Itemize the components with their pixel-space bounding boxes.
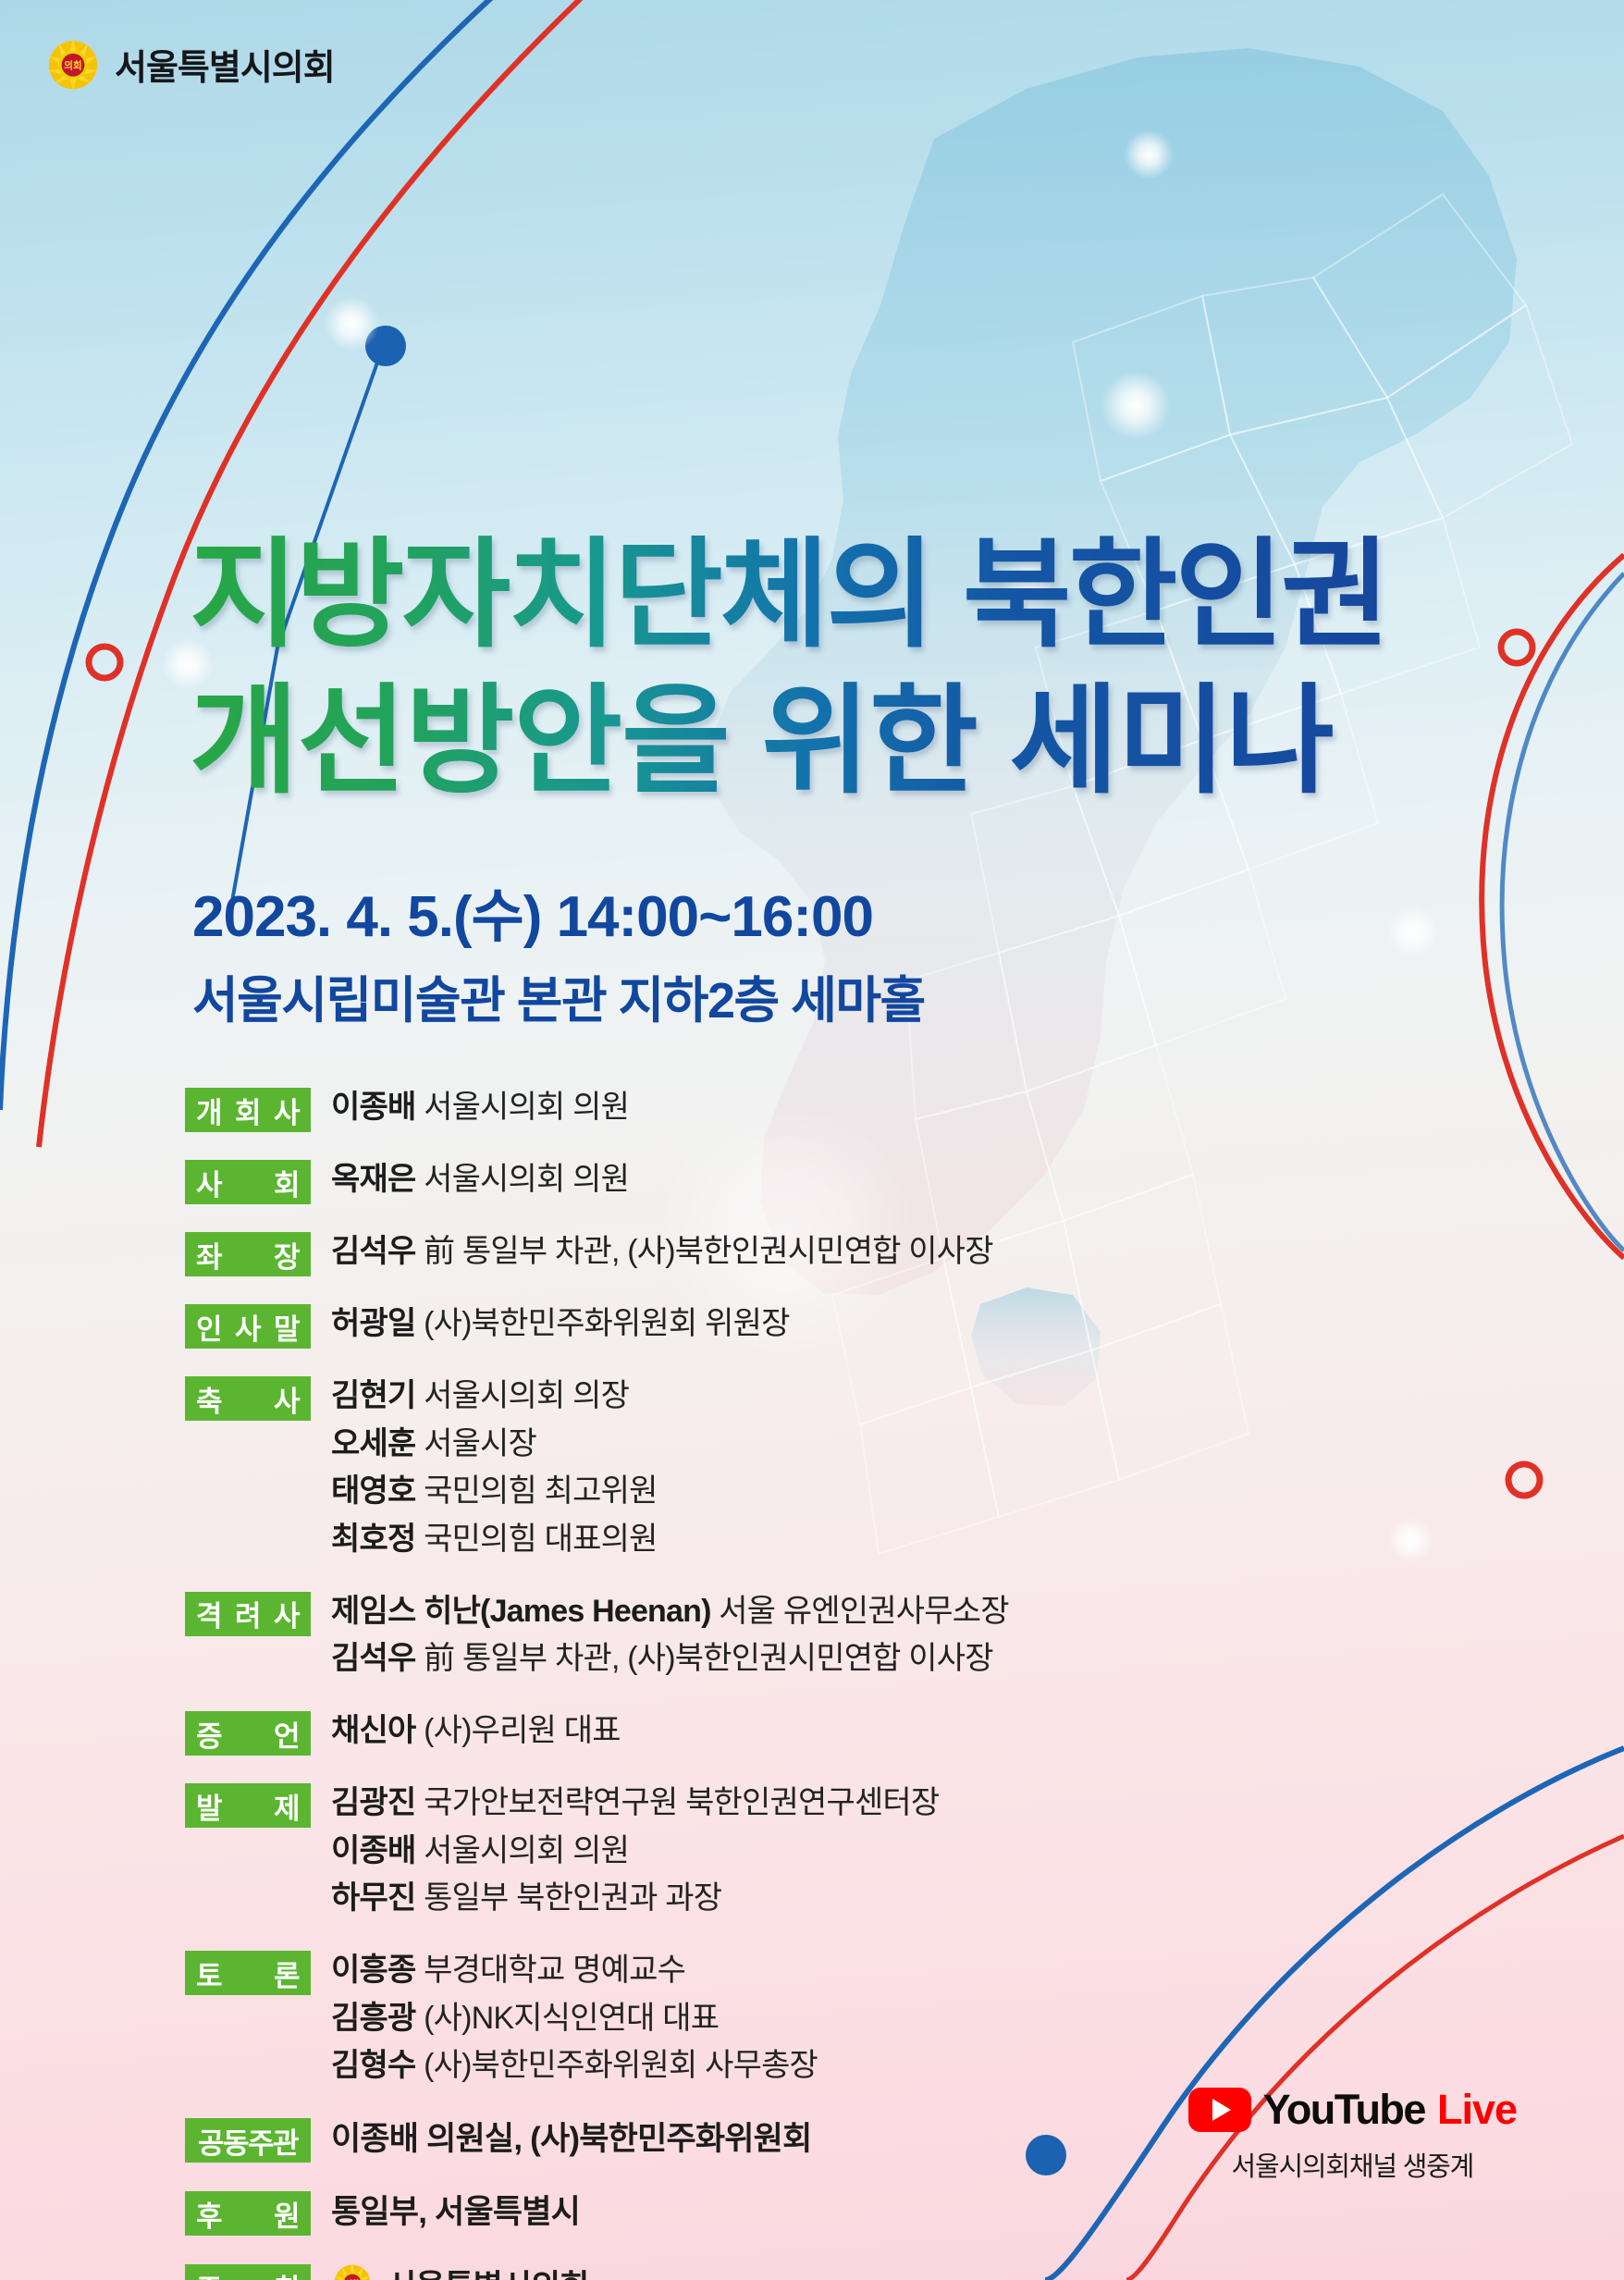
program-entry-title: 부경대학교 명예교수 (415, 1953, 685, 1988)
program-entry-name: 허광일 (331, 1306, 415, 1341)
program-entry-title: 서울시장 (415, 1426, 536, 1461)
program-entry-name: 오세훈 (331, 1426, 415, 1461)
ring-red-right-top (1501, 632, 1532, 663)
badge-char: 회 (274, 1162, 300, 1203)
program-entry: 김광진 국가안보전략연구원 북한인권연구센터장 (331, 1780, 1341, 1828)
program-entries: 김현기 서울시의회 의장오세훈 서울시장태영호 국민의힘 최고위원최호정 국민의… (331, 1373, 1341, 1564)
program-entry: 최호정 국민의힘 대표의원 (331, 1516, 1341, 1564)
program-entry-name: 이종배 의원실, (사)북한민주화위원회 (331, 2121, 811, 2157)
program-entry: 김석우 前 통일부 차관, (사)북한인권시민연합 이사장 (331, 1228, 1341, 1276)
glow-spark-1 (324, 296, 379, 351)
program-entry-title: 前 통일부 차관, (사)북한인권시민연합 이사장 (415, 1234, 992, 1269)
program-entry-name: 하무진 (331, 1880, 415, 1916)
program-entry-name: 김흥광 (331, 2001, 415, 2036)
program-role-badge: 공동주관 (185, 2118, 311, 2163)
program-entries: 이흥종 부경대학교 명예교수김흥광 (사)NK지식인연대 대표김형수 (사)북한… (331, 1947, 1341, 2090)
program-role-badge: 인사말 (185, 1304, 311, 1349)
badge-char: 발 (196, 1785, 222, 1827)
program-entry: 이종배 서울시의회 의원 (331, 1084, 1341, 1132)
badge-char: 최 (274, 2266, 300, 2280)
program-row: 후원통일부, 서울특별시 (185, 2188, 1341, 2237)
header-logo: 의회 서울특별시의회 (44, 35, 335, 92)
program-entries: 의회 서울특별시의회 (331, 2261, 1341, 2280)
badge-char: 사 (274, 1090, 300, 1131)
badge-char: 토 (196, 1953, 222, 1994)
program-row: 격려사제임스 히난(James Heenan) 서울 유엔인권사무소장김석우 前… (185, 1588, 1341, 1683)
program-entry: 이흥종 부경대학교 명예교수 (331, 1947, 1341, 1995)
program-entry-name: 김석우 (331, 1234, 415, 1269)
program-entry: 통일부, 서울특별시 (331, 2188, 1341, 2237)
dot-blue-top (365, 326, 406, 366)
program-entry-title: (사)북한민주화위원회 사무총장 (415, 2048, 818, 2083)
program-row: 인사말허광일 (사)북한민주화위원회 위원장 (185, 1300, 1341, 1349)
youtube-wordmark: YouTube (1263, 2086, 1425, 2134)
glow-spark-3 (1124, 129, 1174, 179)
program-entry-name: 제임스 히난(James Heenan) (331, 1594, 711, 1629)
program-entry-title: 국민의힘 대표의원 (415, 1522, 657, 1557)
badge-char: 축 (196, 1378, 222, 1420)
program-entry-name: 태영호 (331, 1473, 415, 1509)
program-row: 좌장김석우 前 통일부 차관, (사)북한인권시민연합 이사장 (185, 1228, 1341, 1276)
badge-char: 회 (235, 1090, 261, 1131)
badge-char: 사 (274, 1378, 300, 1420)
program-entry-name: 이흥종 (331, 1953, 415, 1988)
badge-char: 제 (274, 1785, 300, 1827)
program-role-badge: 발제 (185, 1783, 311, 1828)
badge-char: 사 (235, 1306, 261, 1348)
program-entry-title: (사)북한민주화위원회 위원장 (415, 1306, 789, 1341)
program-entry-title: 국가안보전략연구원 북한인권연구센터장 (415, 1785, 939, 1820)
program-row: 증언채신아 (사)우리원 대표 (185, 1707, 1341, 1756)
program-entry: 김형수 (사)북한민주화위원회 사무총장 (331, 2042, 1341, 2090)
event-venue: 서울시립미술관 본관 지하2층 세마홀 (192, 959, 925, 1032)
program-entry: 오세훈 서울시장 (331, 1421, 1341, 1469)
program-entry-name: 김광진 (331, 1785, 415, 1820)
badge-char: 원 (274, 2193, 300, 2235)
badge-char: 개 (196, 1090, 222, 1131)
program-row: 축사김현기 서울시의회 의장오세훈 서울시장태영호 국민의힘 최고위원최호정 국… (185, 1373, 1341, 1564)
program-entry-title: 서울시의회 의원 (415, 1162, 629, 1197)
badge-char: 려 (235, 1593, 261, 1634)
program-entry: 하무진 통일부 북한인권과 과장 (331, 1875, 1341, 1923)
program-role-badge: 토론 (185, 1951, 311, 1995)
program-entry-title: (사)우리원 대표 (415, 1713, 620, 1748)
broadcast-block: YouTube Live 서울시의회채널 생중계 (1188, 2086, 1517, 2184)
program-entries: 김광진 국가안보전략연구원 북한인권연구센터장이종배 서울시의회 의원하무진 통… (331, 1780, 1341, 1923)
schedule-block: 2023. 4. 5.(수) 14:00~16:00 서울시립미술관 본관 지하… (192, 881, 925, 1032)
badge-char: 좌 (196, 1234, 222, 1276)
program-row: 주최 의회 서울특별시의회 (185, 2261, 1341, 2280)
seoul-council-emblem-icon: 의회 (331, 2261, 374, 2280)
seminar-poster: 의회 서울특별시의회 지방자치단체의 북한인권 개선방안을 위한 세미나 202… (0, 0, 1624, 2280)
program-entries: 김석우 前 통일부 차관, (사)북한인권시민연합 이사장 (331, 1228, 1341, 1276)
glow-spark-2 (1101, 370, 1171, 440)
program-entry-title: 서울시의회 의원 (415, 1090, 629, 1125)
program-entry-title: 서울 유엔인권사무소장 (711, 1594, 1009, 1629)
title-line-1: 지방자치단체의 북한인권 (190, 527, 1387, 664)
program-entries: 통일부, 서울특별시 (331, 2188, 1341, 2237)
program-row: 토론이흥종 부경대학교 명예교수김흥광 (사)NK지식인연대 대표김형수 (사)… (185, 1947, 1341, 2090)
badge-char: 론 (274, 1953, 300, 1994)
badge-char: 공동주관 (198, 2120, 298, 2162)
program-entry-title: 서울시의회 의장 (415, 1378, 629, 1413)
program-entry-title: 국민의힘 최고위원 (415, 1473, 657, 1509)
glow-spark-6 (1387, 906, 1439, 958)
program-entries: 채신아 (사)우리원 대표 (331, 1707, 1341, 1756)
program-entry-title: 서울시의회 의원 (415, 1833, 629, 1868)
program-entry: 허광일 (사)북한민주화위원회 위원장 (331, 1300, 1341, 1349)
program-role-badge: 주최 (185, 2264, 311, 2280)
program-row: 공동주관이종배 의원실, (사)북한민주화위원회 (185, 2114, 1341, 2163)
program-entry-name: 서울특별시의회 (387, 2261, 588, 2280)
broadcast-channel-note: 서울시의회채널 생중계 (1188, 2145, 1517, 2184)
program-entry: 김석우 前 통일부 차관, (사)북한인권시민연합 이사장 (331, 1635, 1341, 1683)
badge-char: 인 (196, 1306, 222, 1348)
badge-char: 후 (196, 2193, 222, 2235)
program-entry-name: 채신아 (331, 1713, 415, 1748)
program-entry: 김현기 서울시의회 의장 (331, 1373, 1341, 1421)
badge-char: 증 (196, 1713, 222, 1755)
ring-red-right-bottom (1508, 1464, 1540, 1496)
badge-char: 사 (196, 1162, 222, 1203)
program-entry-name: 김형수 (331, 2048, 415, 2083)
program-role-badge: 개회사 (185, 1088, 311, 1132)
badge-char: 말 (274, 1306, 300, 1348)
program-entries: 이종배 서울시의회 의원 (331, 1084, 1341, 1132)
program-entry-name: 이종배 (331, 1090, 415, 1125)
program-role-badge: 좌장 (185, 1232, 311, 1276)
program-entry: 채신아 (사)우리원 대표 (331, 1707, 1341, 1756)
program-entry-name: 이종배 (331, 1833, 415, 1868)
arc-blue-right (1502, 573, 1624, 1251)
program-entry: 태영호 국민의힘 최고위원 (331, 1468, 1341, 1516)
program-entry-name: 통일부, 서울특별시 (331, 2194, 580, 2230)
badge-char: 격 (196, 1593, 222, 1634)
program-entries: 제임스 히난(James Heenan) 서울 유엔인권사무소장김석우 前 통일… (331, 1588, 1341, 1683)
program-entry-name: 최호정 (331, 1522, 415, 1557)
program-role-badge: 축사 (185, 1376, 311, 1421)
program-entry-name: 김석우 (331, 1641, 415, 1676)
youtube-live-label: Live (1437, 2086, 1517, 2134)
program-row: 개회사이종배 서울시의회 의원 (185, 1084, 1341, 1132)
program-entry: 옥재은 서울시의회 의원 (331, 1156, 1341, 1204)
program-entry: 이종배 서울시의회 의원 (331, 1828, 1341, 1876)
program-entry-name: 김현기 (331, 1378, 415, 1413)
program-row: 사회옥재은 서울시의회 의원 (185, 1156, 1341, 1204)
organization-name: 서울특별시의회 (115, 39, 335, 90)
ring-red-left (89, 647, 120, 678)
program-row: 발제김광진 국가안보전략연구원 북한인권연구센터장이종배 서울시의회 의원하무진… (185, 1780, 1341, 1923)
badge-char: 사 (274, 1593, 300, 1634)
program-entry-title: (사)NK지식인연대 대표 (415, 2001, 719, 2036)
youtube-play-icon (1188, 2088, 1251, 2132)
badge-char: 주 (196, 2266, 222, 2280)
program-entry: 제임스 히난(James Heenan) 서울 유엔인권사무소장 (331, 1588, 1341, 1636)
program-entries: 옥재은 서울시의회 의원 (331, 1156, 1341, 1204)
program-entry-title: 통일부 북한인권과 과장 (415, 1880, 721, 1916)
badge-char: 언 (274, 1713, 300, 1755)
program-entries: 허광일 (사)북한민주화위원회 위원장 (331, 1300, 1341, 1349)
glow-spark-7 (1387, 1517, 1433, 1563)
program-role-badge: 증언 (185, 1711, 311, 1756)
poster-title: 지방자치단체의 북한인권 개선방안을 위한 세미나 (190, 527, 1387, 811)
program-entry-title: 前 통일부 차관, (사)북한인권시민연합 이사장 (415, 1641, 992, 1676)
program-role-badge: 격려사 (185, 1592, 311, 1636)
event-datetime: 2023. 4. 5.(수) 14:00~16:00 (192, 881, 925, 954)
svg-text:의회: 의회 (64, 60, 81, 72)
seoul-council-emblem-icon: 의회 (44, 35, 102, 92)
program-role-badge: 후원 (185, 2191, 311, 2236)
youtube-live-logo[interactable]: YouTube Live (1188, 2086, 1517, 2134)
title-line-2: 개선방안을 위한 세미나 (190, 673, 1387, 810)
program-entry-name: 옥재은 (331, 1162, 415, 1197)
arc-red-right (1482, 555, 1624, 1258)
program-role-badge: 사회 (185, 1160, 311, 1204)
badge-char: 장 (274, 1234, 300, 1276)
program-entry: 김흥광 (사)NK지식인연대 대표 (331, 1995, 1341, 2043)
program-list: 개회사이종배 서울시의회 의원사회옥재은 서울시의회 의원좌장김석우 前 통일부… (185, 1084, 1341, 2280)
